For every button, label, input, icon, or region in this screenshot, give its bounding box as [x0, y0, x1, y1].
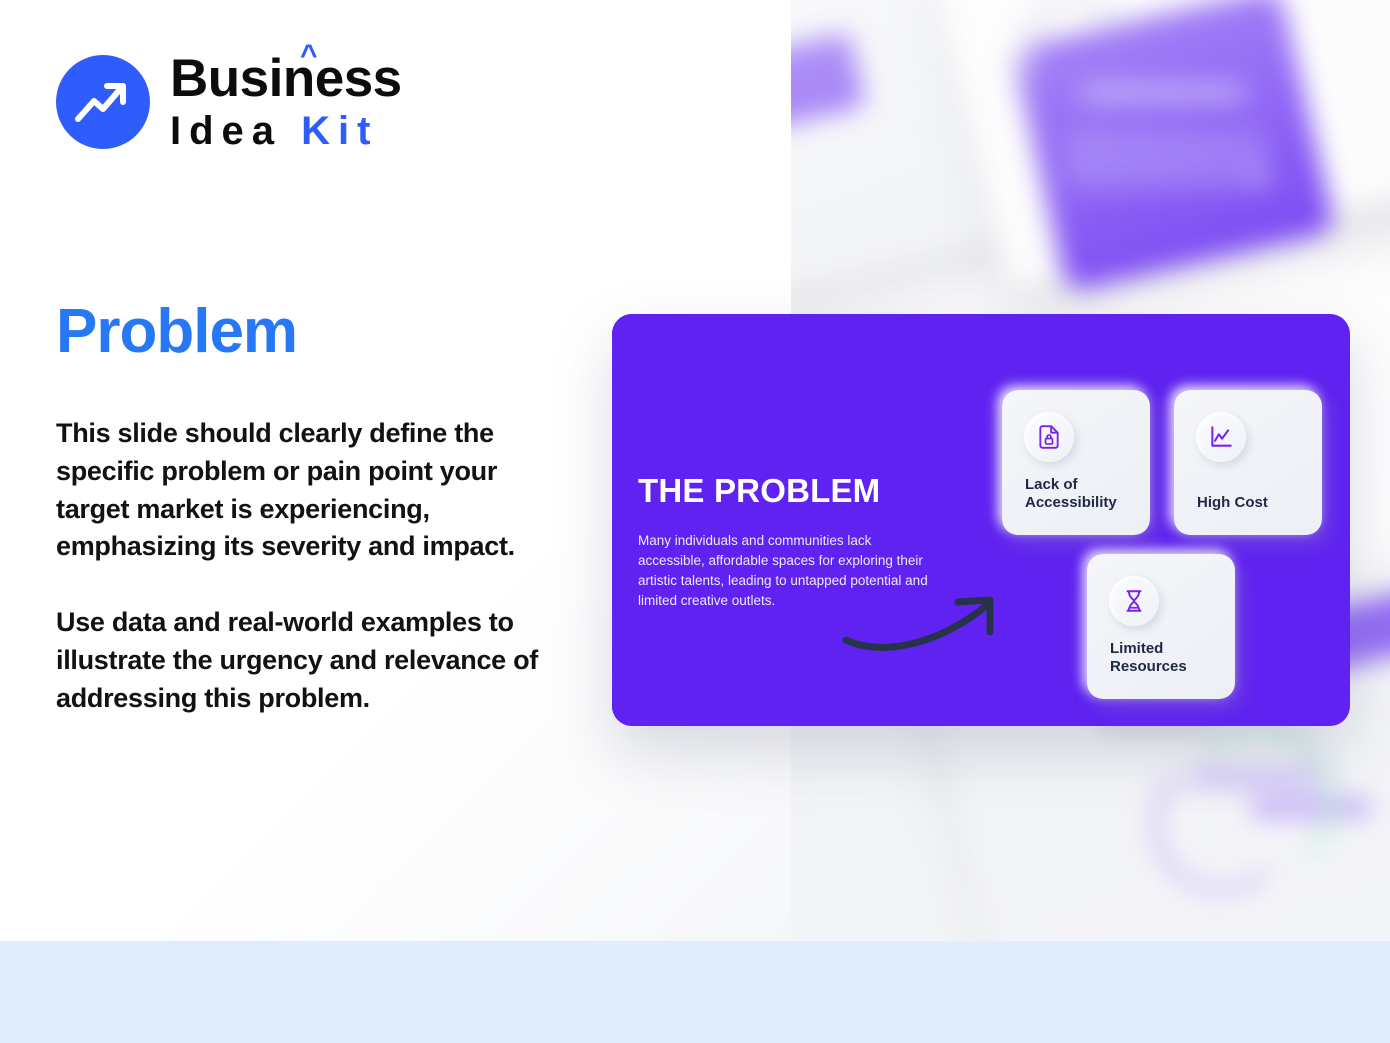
slide-preview-page: Business ^ Idea Kit Problem This slide s…	[0, 0, 1390, 1043]
slide-preview-card[interactable]: THE PROBLEM Many individuals and communi…	[612, 314, 1350, 726]
curved-arrow-up-right-icon	[840, 588, 1010, 663]
feature-card-limited-resources[interactable]: Limited Resources	[1087, 554, 1235, 699]
brand-name-top: Business ^	[170, 52, 402, 105]
hourglass-icon	[1109, 576, 1159, 626]
brand-name-kit: Kit	[301, 109, 378, 153]
description-paragraph: Use data and real-world examples to illu…	[56, 604, 576, 717]
brand-name-idea: Idea	[170, 109, 282, 153]
document-lock-icon	[1024, 412, 1074, 462]
brand-lockup: Business ^ Idea Kit	[56, 52, 402, 151]
brand-name-top-text: Business	[170, 49, 402, 108]
feature-card-lack-of-accessibility[interactable]: Lack of Accessibility	[1002, 390, 1150, 535]
slide-heading: THE PROBLEM	[638, 474, 938, 507]
brand-caret-accent-icon: ^	[300, 41, 317, 71]
page-title: Problem	[56, 296, 297, 367]
line-chart-icon	[1196, 412, 1246, 462]
page-description: This slide should clearly define the spe…	[56, 415, 576, 718]
feature-card-label: High Cost	[1197, 494, 1327, 513]
feature-card-label: Lack of Accessibility	[1025, 476, 1155, 514]
feature-card-high-cost[interactable]: High Cost	[1174, 390, 1322, 535]
description-paragraph: This slide should clearly define the spe…	[56, 415, 576, 566]
feature-card-label: Limited Resources	[1110, 640, 1240, 678]
bottom-accent-band	[0, 941, 1390, 1043]
brand-name-bottom: Idea Kit	[170, 111, 402, 151]
trending-up-arrow-icon	[56, 55, 150, 149]
brand-wordmark: Business ^ Idea Kit	[170, 52, 402, 151]
